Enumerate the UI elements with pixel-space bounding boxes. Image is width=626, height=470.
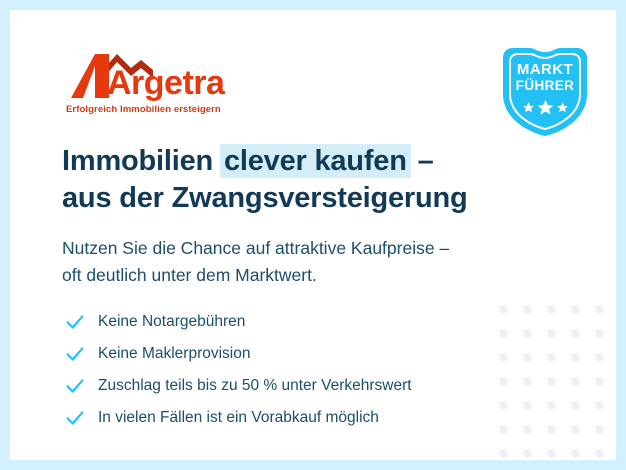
list-item: In vielen Fällen ist ein Vorabkauf mögli… — [64, 403, 412, 432]
decorative-dot — [547, 401, 556, 410]
decorative-dot — [547, 305, 556, 314]
logo-tagline: Erfolgreich Immobilien ersteigern — [66, 104, 221, 115]
decorative-dot — [571, 329, 580, 338]
decorative-dot — [523, 425, 532, 434]
decorative-dot — [547, 449, 556, 458]
argetra-logo-mark: Argetra — [65, 50, 245, 102]
decorative-dot — [499, 329, 508, 338]
decorative-dot — [547, 353, 556, 362]
decorative-dot — [547, 377, 556, 386]
decorative-dot — [499, 353, 508, 362]
decorative-dot — [547, 329, 556, 338]
feature-label: Keine Maklerprovision — [98, 345, 251, 363]
decorative-dot — [595, 449, 604, 458]
list-item: Keine Maklerprovision — [64, 339, 412, 368]
decorative-dot — [571, 377, 580, 386]
headline: Immobilien clever kaufen – aus der Zwang… — [62, 143, 468, 217]
check-icon — [64, 343, 86, 365]
headline-text-after: – — [410, 145, 434, 177]
check-icon — [64, 407, 86, 429]
feature-label: Keine Notargebühren — [98, 313, 245, 331]
decorative-dot — [523, 401, 532, 410]
decorative-dot — [571, 305, 580, 314]
market-leader-badge: MARKT FÜHRER — [497, 42, 593, 140]
decorative-dot — [523, 305, 532, 314]
decorative-dot — [595, 401, 604, 410]
feature-label: Zuschlag teils bis zu 50 % unter Verkehr… — [98, 377, 412, 395]
argetra-logo[interactable]: Argetra Erfolgreich Immobilien ersteiger… — [65, 50, 245, 122]
headline-line-2: aus der Zwangsversteigerung — [62, 180, 468, 217]
decorative-dot — [595, 425, 604, 434]
decorative-dot — [499, 305, 508, 314]
decorative-dot — [595, 353, 604, 362]
decorative-dot — [499, 401, 508, 410]
decorative-dot — [523, 353, 532, 362]
decorative-dot — [571, 425, 580, 434]
headline-text-before: Immobilien — [62, 145, 221, 177]
feature-label: In vielen Fällen ist ein Vorabkauf mögli… — [98, 409, 379, 427]
list-item: Zuschlag teils bis zu 50 % unter Verkehr… — [64, 371, 412, 400]
decorative-dot — [595, 377, 604, 386]
decorative-dot — [595, 305, 604, 314]
decorative-dot — [499, 377, 508, 386]
decorative-dot — [571, 401, 580, 410]
headline-highlight: clever kaufen — [220, 144, 411, 178]
subheadline: Nutzen Sie die Chance auf attraktive Kau… — [62, 235, 449, 288]
headline-line-1: Immobilien clever kaufen – — [62, 143, 468, 180]
decorative-dot — [595, 329, 604, 338]
decorative-dot — [523, 329, 532, 338]
list-item: Keine Notargebühren — [64, 307, 412, 336]
subheadline-line-1: Nutzen Sie die Chance auf attraktive Kau… — [62, 235, 449, 262]
check-icon — [64, 375, 86, 397]
svg-text:Argetra: Argetra — [107, 64, 226, 102]
decorative-dot — [523, 449, 532, 458]
decorative-dot — [547, 425, 556, 434]
promo-banner: Argetra Erfolgreich Immobilien ersteiger… — [0, 0, 626, 470]
decorative-dot — [571, 449, 580, 458]
subheadline-line-2: oft deutlich unter dem Marktwert. — [62, 262, 449, 289]
banner-card: Argetra Erfolgreich Immobilien ersteiger… — [10, 10, 616, 460]
decorative-dot — [523, 377, 532, 386]
decorative-dot — [571, 353, 580, 362]
decorative-dot — [499, 449, 508, 458]
decorative-dot — [499, 425, 508, 434]
dot-pattern-decoration — [492, 298, 612, 460]
shield-icon — [497, 42, 593, 140]
feature-list: Keine Notargebühren Keine Maklerprovisio… — [64, 307, 412, 435]
check-icon — [64, 311, 86, 333]
